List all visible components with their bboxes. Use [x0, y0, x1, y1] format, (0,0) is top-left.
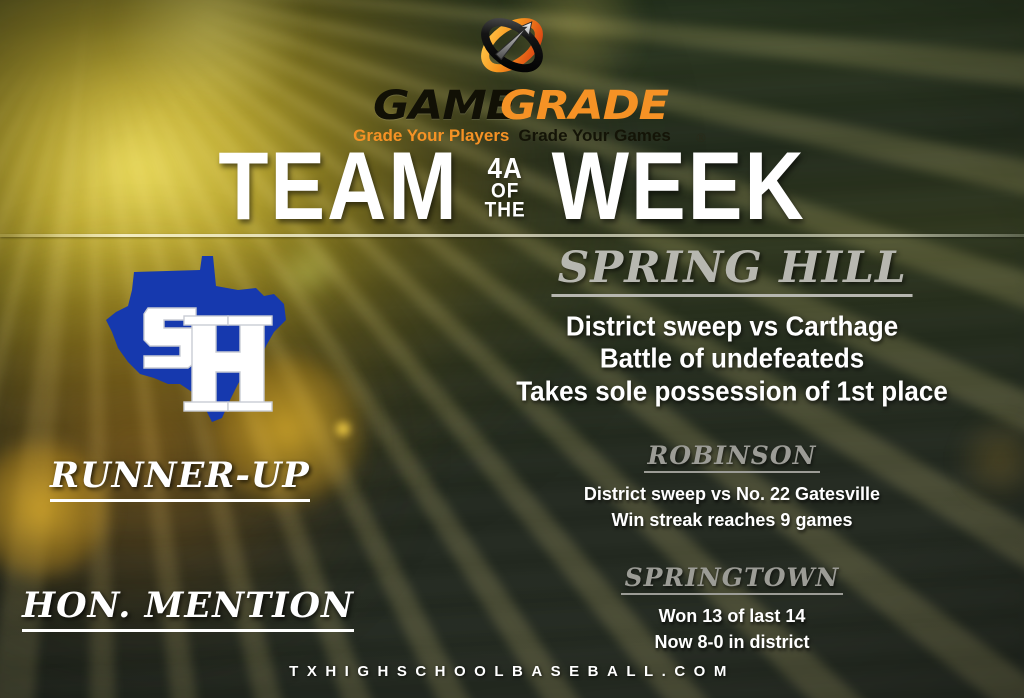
brand-wordmark: GAME GRADE — [373, 86, 650, 126]
winner-block: SPRING HILL District sweep vs Carthage B… — [440, 246, 1024, 408]
runner-up-label: RUNNER-UP — [50, 455, 310, 502]
runner-up-name: ROBINSON — [644, 443, 821, 473]
page-title: TEAM 4A OF THE WEEK — [0, 143, 1024, 231]
footer-website: TXHIGHSCHOOLBASEBALL.COM — [0, 663, 1024, 680]
runner-up-block: ROBINSON District sweep vs No. 22 Gatesv… — [440, 443, 1024, 533]
honorable-mention-notes: Won 13 of last 14 Now 8-0 in district — [440, 603, 1024, 655]
runner-up-notes: District sweep vs No. 22 Gatesville Win … — [440, 481, 1024, 533]
team-of-the-week-graphic: GAME GRADE Grade Your Players Grade Your… — [0, 0, 1024, 698]
title-the: THE — [485, 200, 526, 221]
runner-up-note: District sweep vs No. 22 Gatesville — [440, 481, 1024, 508]
header-divider — [0, 234, 1024, 237]
honorable-mention-block: SPRINGTOWN Won 13 of last 14 Now 8-0 in … — [440, 565, 1024, 655]
spring-hill-texas-sh-logo — [88, 250, 314, 426]
honorable-mention-label-text: HON. MENTION — [22, 585, 354, 632]
runner-up-note: Win streak reaches 9 games — [440, 507, 1024, 534]
winner-name: SPRING HILL — [551, 246, 913, 297]
honorable-mention-label: HON. MENTION — [22, 585, 354, 632]
honorable-mention-note: Now 8-0 in district — [440, 629, 1024, 656]
brand-logo: GAME GRADE Grade Your Players Grade Your… — [0, 4, 1024, 150]
title-word-week: WEEK — [552, 142, 806, 231]
winner-note: District sweep vs Carthage — [440, 309, 1024, 344]
texas-state-shape-icon — [88, 250, 314, 426]
honorable-mention-name: SPRINGTOWN — [621, 565, 844, 595]
honorable-mention-note: Won 13 of last 14 — [440, 603, 1024, 630]
brand-word-grade: GRADE — [500, 86, 668, 126]
winner-note: Battle of undefeateds — [440, 341, 1024, 376]
winner-note: Takes sole possession of 1st place — [440, 374, 1024, 409]
title-classification: 4A — [488, 154, 523, 183]
title-classification-stack: 4A OF THE — [485, 153, 526, 220]
winner-notes: District sweep vs Carthage Battle of und… — [440, 310, 1024, 408]
brand-word-game: GAME — [373, 86, 515, 126]
title-word-team: TEAM — [218, 142, 458, 231]
gamegrade-orbit-icon — [458, 4, 566, 90]
runner-up-label-text: RUNNER-UP — [50, 455, 310, 502]
